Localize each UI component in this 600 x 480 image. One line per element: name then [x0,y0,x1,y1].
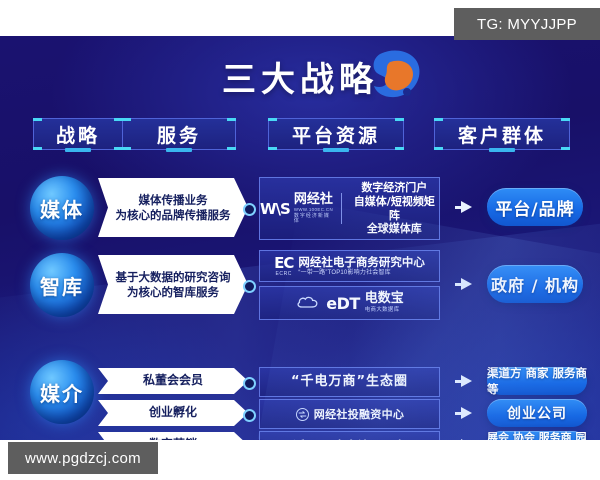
poster-title-text: 三大战略 [222,60,378,100]
result-pill-platform-brand-label: 平台/品牌 [495,195,574,220]
service-chip-digital-marketing: 数字营销 [98,432,248,440]
logo-edt: eDT 电数宝 电商大数据库 [295,292,404,313]
resource-media-line2: 自媒体/短视频矩阵 [350,195,439,223]
flow-arrow-icon [461,201,472,213]
flow-arrow-icon [461,407,472,419]
strategy-circle-thinktank-label: 智库 [40,271,84,300]
header-platform-resource: 平台资源 [268,118,404,150]
logo-ecrc-mark: EC [274,256,293,271]
service-chip-media: 媒体传播业务 为核心的品牌传播服务 [98,178,248,237]
header-strategy: 战略 [33,118,123,150]
result-pill-government: 政府 / 机构 [487,265,583,303]
service-chip-digital-marketing-label: 数字营销 [149,437,197,440]
connector-dot [243,203,256,216]
service-chip-media-line2: 为核心的品牌传播服务 [116,208,231,223]
logo-edt-mark: eDT [326,294,360,313]
service-chip-thinktank-line2: 为核心的智库服务 [127,285,219,300]
refresh-cycle-icon [295,407,310,422]
watermark-top-right: TG: MYYJJPP [454,8,600,40]
result-pill-channels-label: 渠道方 商家 服务商等 [487,365,587,397]
result-pill-platform-brand: 平台/品牌 [487,188,583,226]
service-chip-incubation: 创业孵化 [98,400,248,426]
resource-box-investment-center: 网经社投融资中心 [259,399,440,429]
infographic-poster: 三大战略 战略 服务 平台资源 客户群体 媒 [0,36,600,440]
result-pill-exhibitions-label: 展会 协会 服务商 园区等 [487,429,587,440]
logo-ecrc-mark-sub: ECRC [275,272,292,277]
flow-arrow-icon [461,375,472,387]
strategy-circle-medium: 媒介 [30,360,94,424]
logo-ecrc: EC ECRC 网经社电子商务研究中心 “一带一路”TOP10影响力社会智库 [274,256,425,277]
logo-edt-sub: 电商大数据库 [365,308,404,314]
result-pill-government-label: 政府 / 机构 [491,272,579,296]
watermark-top-right-text: TG: MYYJJPP [477,16,577,33]
result-pill-channels: 渠道方 商家 服务商等 [487,367,587,395]
service-chip-thinktank-line1: 基于大数据的研究咨询 [116,270,231,285]
header-platform-resource-label: 平台资源 [292,121,380,148]
result-pill-startups: 创业公司 [487,399,587,427]
strategy-circle-media: 媒体 [30,176,94,240]
resource-box-registered-users: 近50万实名注册用户 [259,431,440,440]
resource-registered-users-label: 近50万实名注册用户 [293,439,406,441]
service-chip-thinktank: 基于大数据的研究咨询 为核心的智库服务 [98,255,248,314]
header-customer-group-label: 客户群体 [458,121,546,148]
flow-arrow-icon [461,278,472,290]
logo-wangjingshe: W\S 网经社 WWW.100EC.CN 数字经济新媒体 [260,193,342,223]
logo-investment-center: 网经社投融资中心 [295,406,404,422]
watermark-bottom-left: www.pgdzcj.com [8,442,158,474]
service-chip-private-club: 私董会会员 [98,368,248,394]
service-chip-incubation-label: 创业孵化 [149,405,197,420]
logo-investment-center-name: 网经社投融资中心 [314,406,404,422]
watermark-bottom-left-text: www.pgdzcj.com [25,450,141,467]
poster-title: 三大战略 [0,52,600,101]
resource-box-ecrc: EC ECRC 网经社电子商务研究中心 “一带一路”TOP10影响力社会智库 [259,250,440,282]
cloud-icon [295,294,321,312]
screenshot-root: 三大战略 战略 服务 平台资源 客户群体 媒 [0,0,600,480]
service-chip-media-line1: 媒体传播业务 [139,193,208,208]
result-pill-startups-label: 创业公司 [507,403,567,423]
resource-box-edt: eDT 电数宝 电商大数据库 [259,286,440,320]
logo-wangjingshe-sub: 数字经济新媒体 [294,214,334,224]
service-chip-private-club-label: 私董会会员 [143,373,203,388]
header-service-label: 服务 [157,121,201,148]
resource-box-ecosystem: “千电万商”生态圈 [259,367,440,397]
connector-dot [243,280,256,293]
resource-media-line1: 数字经济门户 [350,181,439,195]
logo-wangjingshe-name: 网经社 [294,193,334,206]
result-pill-exhibitions: 展会 协会 服务商 园区等 [487,431,587,440]
resource-box-media: W\S 网经社 WWW.100EC.CN 数字经济新媒体 数字经济门户 自媒体/… [259,177,440,240]
logo-edt-name: 电数宝 [365,292,404,306]
logo-wangjingshe-mark: W\S [260,200,290,218]
resource-ecosystem-label: “千电万商”生态圈 [291,374,408,390]
header-customer-group: 客户群体 [434,118,570,150]
connector-dot [243,377,256,390]
strategy-circle-medium-label: 媒介 [40,378,84,407]
header-service: 服务 [122,118,236,150]
strategy-circle-media-label: 媒体 [40,194,84,223]
logo-ecrc-sub: “一带一路”TOP10影响力社会智库 [298,270,425,276]
resource-media-line3: 全球媒体库 [350,222,439,236]
flow-arrow-icon [461,439,472,440]
strategy-circle-thinktank: 智库 [30,253,94,317]
logo-ecrc-name: 网经社电子商务研究中心 [298,256,425,268]
connector-dot [243,409,256,422]
header-strategy-label: 战略 [56,121,100,148]
